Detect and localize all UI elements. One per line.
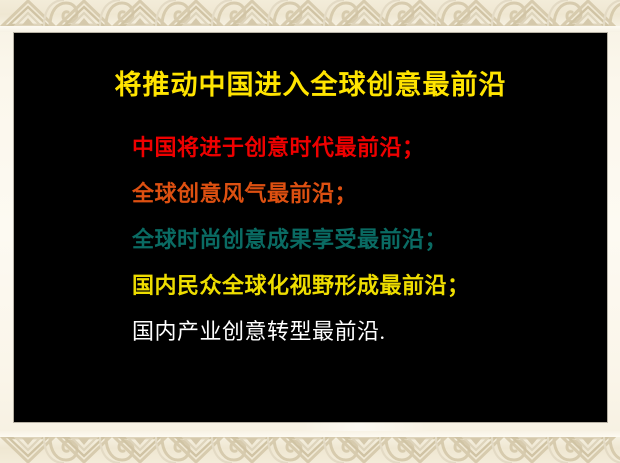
bullet-line-1: 中国将进于创意时代最前沿； — [132, 125, 602, 171]
bullet-line-4: 国内民众全球化视野形成最前沿； — [132, 263, 602, 309]
bullet-line-2: 全球创意风气最前沿； — [132, 171, 602, 217]
top-ornamental-border — [0, 0, 620, 27]
slide-title: 将推动中国进入全球创意最前沿 — [14, 71, 607, 101]
bullet-line-3: 全球时尚创意成果享受最前沿； — [132, 217, 602, 263]
bottom-ornamental-border — [0, 436, 620, 463]
bullet-list: 中国将进于创意时代最前沿； 全球创意风气最前沿； 全球时尚创意成果享受最前沿； … — [132, 125, 602, 355]
top-border-seam — [0, 26, 620, 32]
greek-key-pattern-top-icon — [0, 0, 620, 27]
greek-key-pattern-bottom-icon — [0, 436, 620, 463]
slide-content-stage: 将推动中国进入全球创意最前沿 中国将进于创意时代最前沿； 全球创意风气最前沿； … — [14, 33, 607, 422]
bottom-border-seam — [0, 431, 620, 437]
slide-canvas: 将推动中国进入全球创意最前沿 中国将进于创意时代最前沿； 全球创意风气最前沿； … — [0, 0, 620, 463]
bullet-line-5: 国内产业创意转型最前沿. — [132, 309, 602, 355]
